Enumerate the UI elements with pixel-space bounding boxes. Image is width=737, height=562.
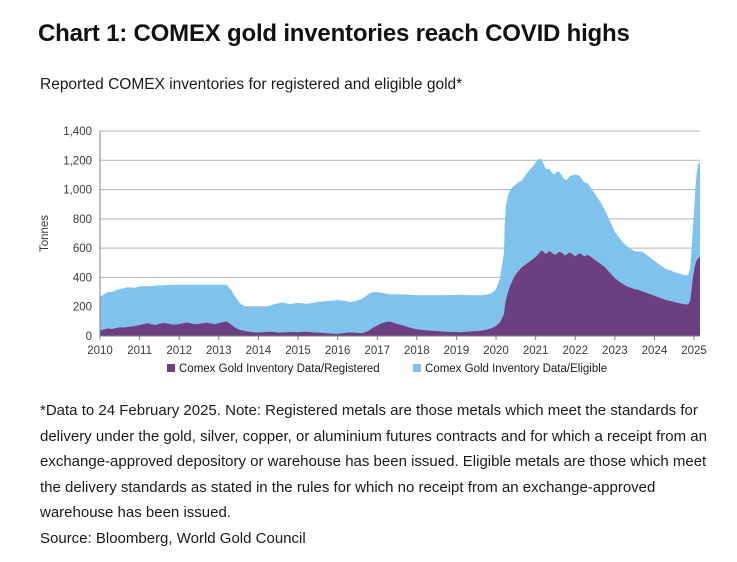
footnote-source: Source: Bloomberg, World Gold Council bbox=[40, 526, 712, 552]
legend-label: Comex Gold Inventory Data/Eligible bbox=[425, 363, 607, 375]
x-tick-label: 2019 bbox=[444, 345, 470, 357]
y-axis-title-text: Tonnes bbox=[39, 215, 51, 252]
chart-figure: 02004006008001,0001,2001,400 20102011201… bbox=[0, 118, 737, 393]
x-tick-label: 2022 bbox=[562, 345, 588, 357]
x-tick-label: 2017 bbox=[364, 345, 390, 357]
y-tick-label: 800 bbox=[73, 214, 92, 226]
x-tick-label: 2021 bbox=[523, 345, 549, 357]
y-tick-label: 1,000 bbox=[63, 185, 92, 197]
x-axis-tick-labels: 2010201120122013201420152016201720182019… bbox=[87, 345, 707, 357]
chart-legend: Comex Gold Inventory Data/RegisteredCome… bbox=[167, 363, 607, 375]
area-series-group bbox=[100, 159, 700, 336]
y-tick-label: 1,400 bbox=[63, 126, 92, 138]
x-tick-label: 2011 bbox=[127, 345, 152, 357]
legend-label: Comex Gold Inventory Data/Registered bbox=[179, 363, 380, 375]
legend-swatch bbox=[413, 364, 421, 372]
chart-subtitle: Reported COMEX inventories for registere… bbox=[40, 76, 462, 94]
x-tick-label: 2015 bbox=[285, 345, 311, 357]
y-tick-label: 600 bbox=[73, 243, 92, 255]
x-tick-label: 2025 bbox=[681, 345, 707, 357]
page-title: Chart 1: COMEX gold inventories reach CO… bbox=[38, 20, 630, 48]
chart-page: Chart 1: COMEX gold inventories reach CO… bbox=[0, 0, 737, 562]
x-tick-label: 2020 bbox=[483, 345, 509, 357]
footnote-block: *Data to 24 February 2025. Note: Registe… bbox=[40, 398, 712, 551]
x-tick-label: 2018 bbox=[404, 345, 430, 357]
y-axis-tick-labels: 02004006008001,0001,2001,400 bbox=[63, 126, 92, 343]
x-tick-label: 2023 bbox=[602, 345, 628, 357]
x-tick-label: 2016 bbox=[325, 345, 351, 357]
y-tick-label: 400 bbox=[73, 272, 92, 284]
x-tick-label: 2013 bbox=[206, 345, 232, 357]
legend-swatch bbox=[167, 364, 175, 372]
x-tick-label: 2010 bbox=[87, 345, 113, 357]
x-tick-label: 2012 bbox=[166, 345, 192, 357]
x-tick-label: 2024 bbox=[642, 345, 668, 357]
y-tick-label: 200 bbox=[73, 302, 92, 314]
footnote-note: *Data to 24 February 2025. Note: Registe… bbox=[40, 398, 712, 526]
y-tick-label: 0 bbox=[86, 331, 92, 343]
x-tick-label: 2014 bbox=[246, 345, 272, 357]
comex-inventory-area-chart: 02004006008001,0001,2001,400 20102011201… bbox=[0, 118, 737, 393]
y-tick-label: 1,200 bbox=[63, 155, 92, 167]
y-axis-title: Tonnes bbox=[39, 215, 51, 252]
